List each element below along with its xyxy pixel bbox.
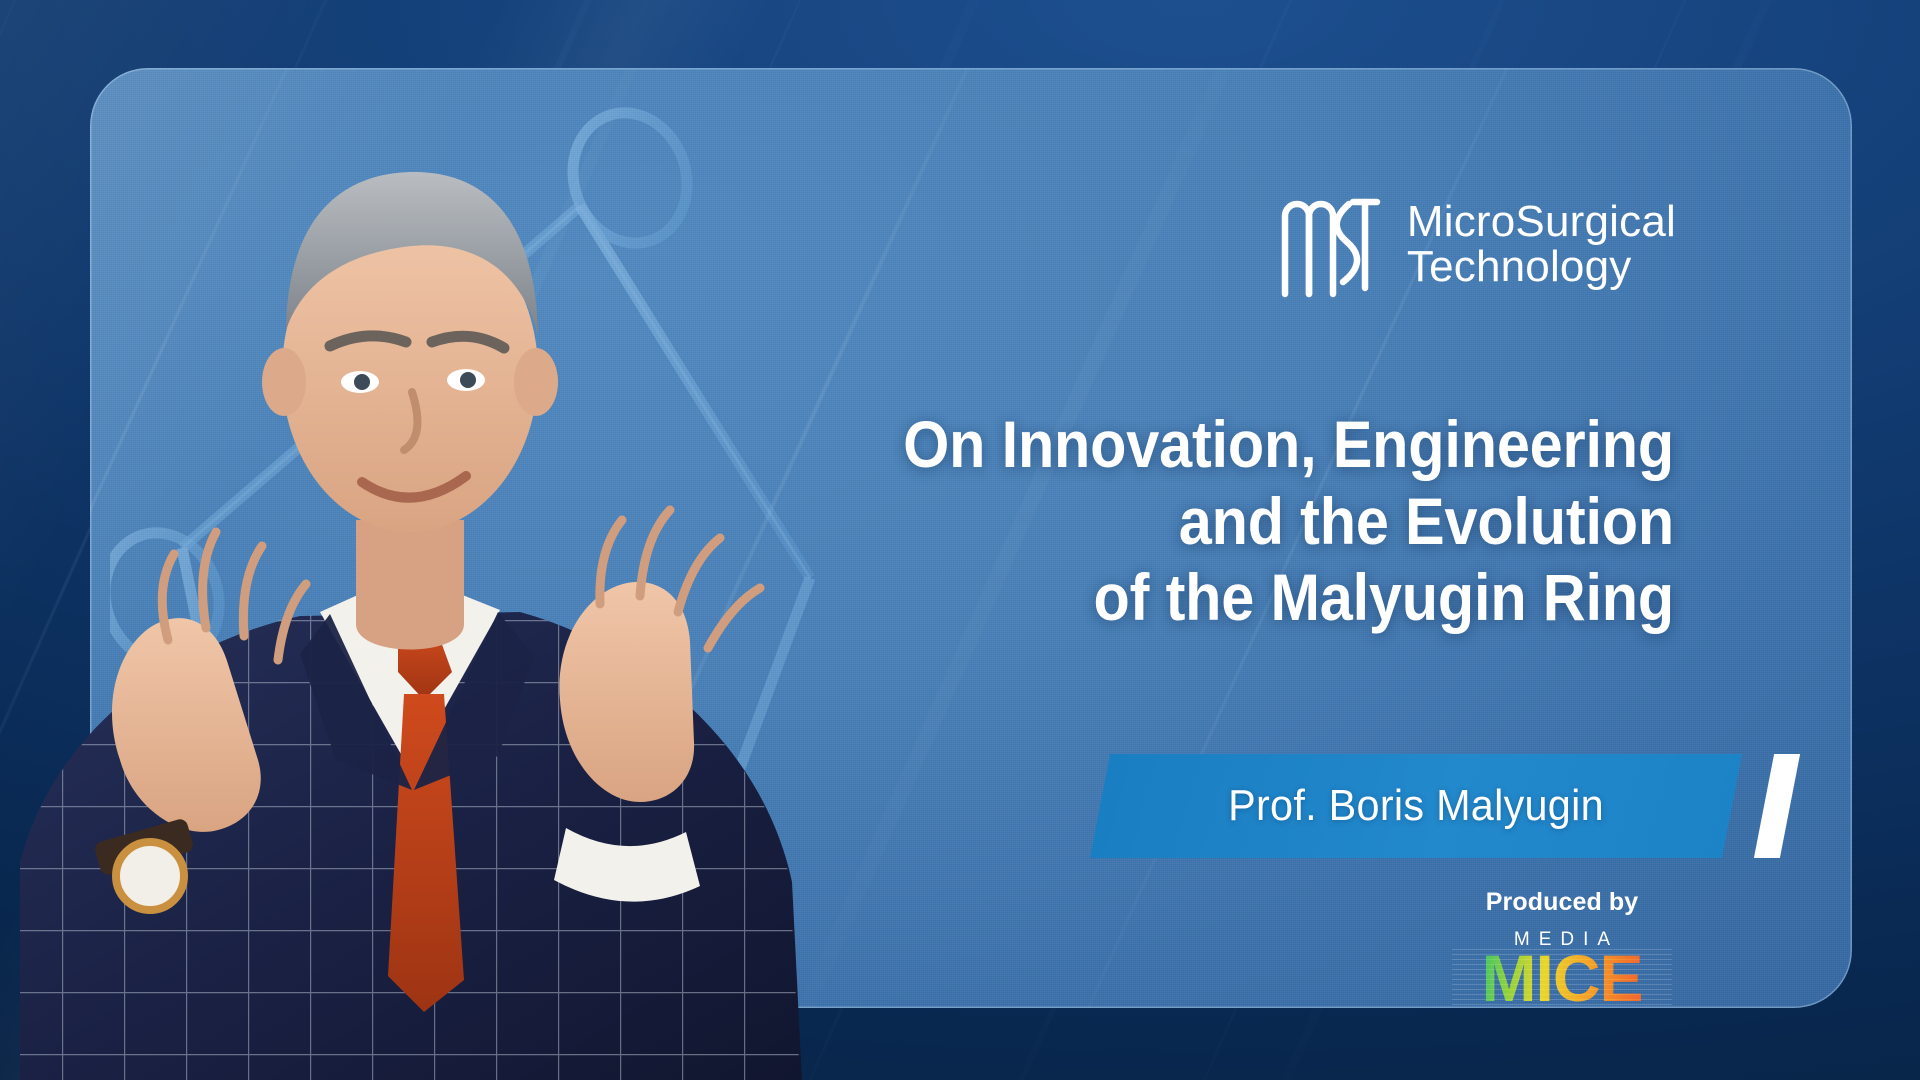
producer-credit: Produced by MEDIA MICE: [1452, 888, 1672, 1008]
mst-monogram-icon: [1277, 188, 1381, 300]
speaker-name-banner: Prof. Boris Malyugin: [1100, 754, 1840, 858]
thumbnail-canvas: MicroSurgical Technology On Innovation, …: [0, 0, 1920, 1080]
accent-slash-icon: [1754, 754, 1800, 858]
produced-by-label: Produced by: [1452, 888, 1672, 917]
speaker-name: Prof. Boris Malyugin: [1119, 754, 1713, 858]
title-line-2: and the Evolution: [720, 483, 1674, 560]
mst-wordmark-line1: MicroSurgical: [1407, 199, 1676, 244]
title-line-3: of the Malyugin Ring: [720, 559, 1674, 636]
mst-wordmark-line2: Technology: [1407, 244, 1676, 289]
title-line-1: On Innovation, Engineering: [720, 406, 1674, 483]
mst-wordmark: MicroSurgical Technology: [1407, 199, 1676, 290]
mst-logo: MicroSurgical Technology: [1277, 188, 1676, 300]
page-title: On Innovation, Engineering and the Evolu…: [720, 406, 1674, 636]
mice-wordmark: MICE: [1452, 947, 1672, 1008]
